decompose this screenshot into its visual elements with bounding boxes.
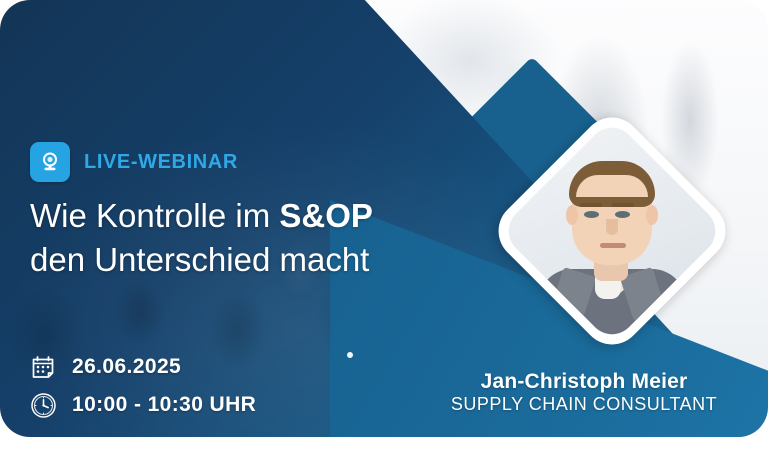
clock-icon <box>28 390 58 420</box>
banner-card: LIVE-WEBINAR Wie Kontrolle im S&OP den U… <box>0 0 768 437</box>
decorative-dot <box>347 352 353 358</box>
headline-line1-bold: S&OP <box>279 197 373 234</box>
speaker-info: Jan-Christoph Meier SUPPLY CHAIN CONSULT… <box>434 370 734 416</box>
calendar-icon <box>28 352 58 382</box>
webcam-icon <box>30 142 70 182</box>
live-webinar-label: LIVE-WEBINAR <box>84 151 238 174</box>
event-time: 10:00 - 10:30 UHR <box>72 393 256 417</box>
webinar-banner: LIVE-WEBINAR Wie Kontrolle im S&OP den U… <box>0 0 768 450</box>
event-date: 26.06.2025 <box>72 355 181 379</box>
event-time-row: 10:00 - 10:30 UHR <box>28 386 256 424</box>
page-title: Wie Kontrolle im S&OP den Unterschied ma… <box>30 194 470 282</box>
event-date-row: 26.06.2025 <box>28 348 256 386</box>
headline-line1-pre: Wie Kontrolle im <box>30 197 279 234</box>
speaker-name: Jan-Christoph Meier <box>434 370 734 393</box>
live-webinar-badge: LIVE-WEBINAR <box>30 142 238 182</box>
headline-line2: den Unterschied macht <box>30 241 369 278</box>
speaker-role: SUPPLY CHAIN CONSULTANT <box>434 393 734 416</box>
event-meta: 26.06.2025 10:00 - 10 <box>28 348 256 424</box>
